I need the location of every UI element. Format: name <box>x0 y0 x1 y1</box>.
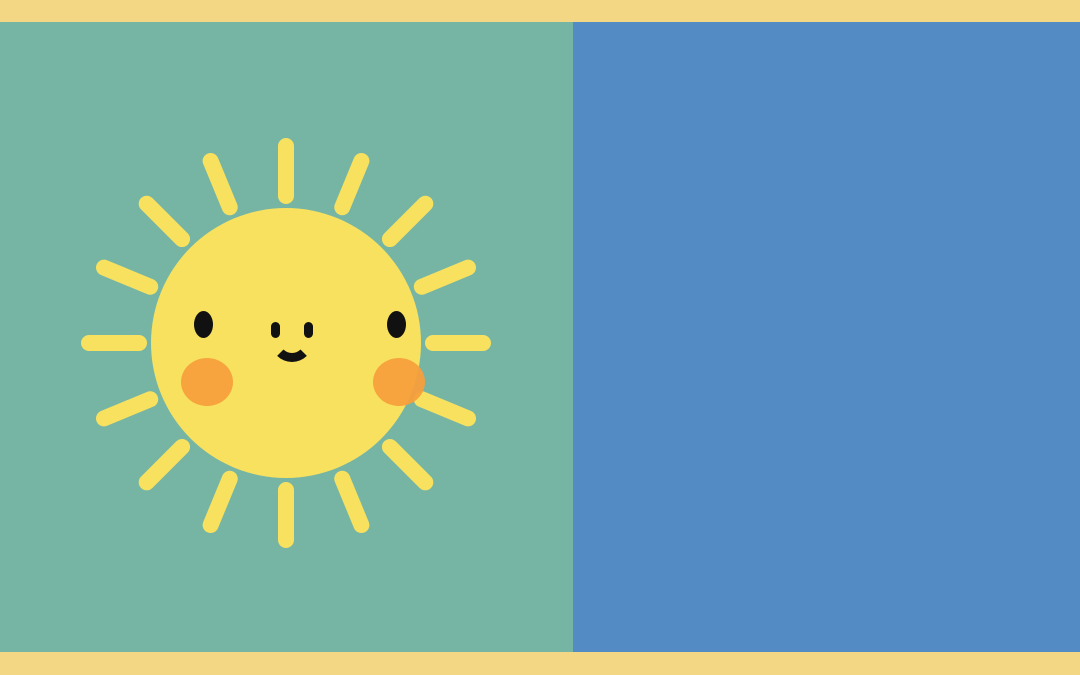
sun-ray <box>135 192 193 250</box>
poster-canvas: IT IS OKAY TO BE YOURSELFMAKE MISTAKESST… <box>0 0 1080 675</box>
sun-ray <box>135 436 193 494</box>
sun-ray <box>411 389 478 429</box>
sun-ray <box>94 257 161 297</box>
sun-ray <box>278 138 294 204</box>
sun-illustration <box>0 22 573 652</box>
right-poster-panel: IT IS OKAY TO BE YOURSELFMAKE MISTAKESST… <box>573 22 1080 652</box>
sun-smile <box>271 322 313 362</box>
sun-ray <box>379 436 437 494</box>
sun-blush-right <box>373 358 425 406</box>
sun-ray <box>200 151 240 218</box>
left-illustration-panel <box>0 22 573 652</box>
sun-ray <box>379 192 437 250</box>
sun-blush-left <box>181 358 233 406</box>
sun-eye-left <box>194 311 213 338</box>
sun-ray <box>425 335 491 351</box>
sun-ray <box>81 335 147 351</box>
sun-ray <box>332 468 372 535</box>
sun-ray <box>200 468 240 535</box>
sun-ray <box>332 151 372 218</box>
sun-ray <box>278 482 294 548</box>
sun-ray <box>94 389 161 429</box>
sun-eye-right <box>387 311 406 338</box>
sun-ray <box>411 257 478 297</box>
